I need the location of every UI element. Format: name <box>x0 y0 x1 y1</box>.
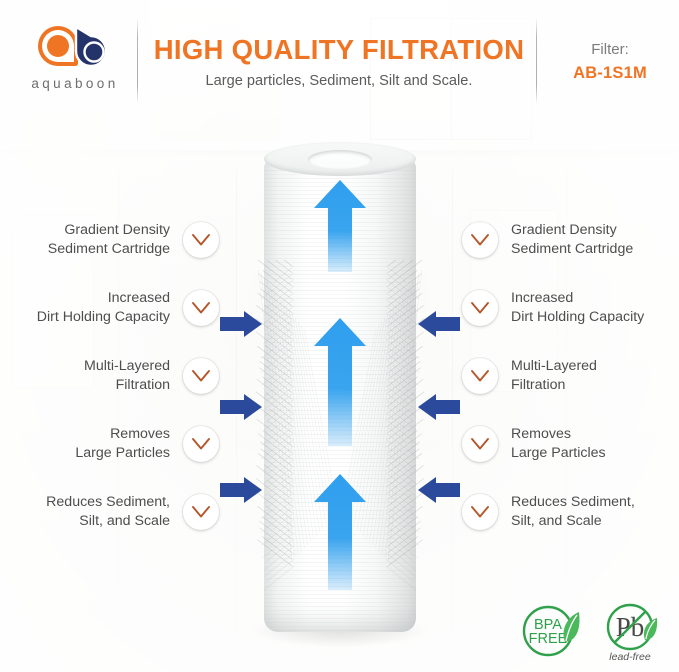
page-subtitle: Large particles, Sediment, Silt and Scal… <box>150 73 528 89</box>
feature-list-right: Gradient Density Sediment CartridgeIncre… <box>462 206 677 546</box>
bpa-free-icon: BPA FREE <box>517 598 587 664</box>
navy-inward-arrow-icon <box>416 475 462 505</box>
feature-label: Removes Large Particles <box>75 425 170 462</box>
header-bar: aquaboon HIGH QUALITY FILTRATION Large p… <box>0 0 679 110</box>
feature-label: Gradient Density Sediment Cartridge <box>511 221 633 258</box>
check-icon <box>462 358 498 394</box>
check-icon <box>462 494 498 530</box>
blue-up-arrow-icon <box>312 316 368 448</box>
blue-up-arrow-icon <box>312 472 368 592</box>
check-icon <box>183 222 219 258</box>
sediment-filter-cartridge <box>264 142 416 654</box>
feature-label: Multi-Layered Filtration <box>511 357 597 394</box>
filter-label: Filter: <box>545 40 675 60</box>
cartridge-center-hole <box>308 150 372 169</box>
header-divider-left <box>137 18 138 104</box>
check-icon <box>462 222 498 258</box>
blue-up-arrow-icon <box>312 178 368 274</box>
svg-text:lead-free: lead-free <box>609 651 651 663</box>
page-title: HIGH QUALITY FILTRATION <box>150 36 528 65</box>
eco-badge-group: BPA FREE Pb lead-free <box>517 598 669 664</box>
feature-item: Reduces Sediment, Silt, and Scale <box>462 478 677 546</box>
brand-name: aquaboon <box>31 76 118 91</box>
feature-item: Increased Dirt Holding Capacity <box>4 274 219 342</box>
feature-label: Increased Dirt Holding Capacity <box>37 289 170 326</box>
feature-item: Reduces Sediment, Silt, and Scale <box>4 478 219 546</box>
feature-label: Reduces Sediment, Silt, and Scale <box>511 493 635 530</box>
navy-inward-arrow-icon <box>218 392 264 422</box>
feature-label: Reduces Sediment, Silt, and Scale <box>46 493 170 530</box>
feature-label: Increased Dirt Holding Capacity <box>511 289 644 326</box>
feature-label: Gradient Density Sediment Cartridge <box>48 221 170 258</box>
infographic-canvas: aquaboon HIGH QUALITY FILTRATION Large p… <box>0 0 679 672</box>
feature-item: Removes Large Particles <box>462 410 677 478</box>
header-divider-right <box>536 18 537 104</box>
check-icon <box>462 290 498 326</box>
navy-inward-arrow-icon <box>218 475 264 505</box>
navy-inward-arrow-icon <box>416 309 462 339</box>
feature-item: Removes Large Particles <box>4 410 219 478</box>
aquaboon-ab-monogram-icon <box>38 26 112 70</box>
feature-list-left: Gradient Density Sediment CartridgeIncre… <box>4 206 219 546</box>
check-icon <box>183 290 219 326</box>
brand-logo: aquaboon <box>20 26 130 96</box>
filter-model: AB-1S1M <box>545 62 675 84</box>
check-icon <box>183 494 219 530</box>
logo-b-drop <box>70 25 112 69</box>
logo-a-dot <box>47 35 69 57</box>
check-icon <box>183 426 219 462</box>
feature-item: Gradient Density Sediment Cartridge <box>4 206 219 274</box>
feature-label: Removes Large Particles <box>511 425 606 462</box>
feature-item: Multi-Layered Filtration <box>462 342 677 410</box>
svg-text:FREE: FREE <box>529 631 568 647</box>
feature-item: Increased Dirt Holding Capacity <box>462 274 677 342</box>
header-title-block: HIGH QUALITY FILTRATION Large particles,… <box>150 36 528 89</box>
navy-inward-arrow-icon <box>218 309 264 339</box>
feature-item: Multi-Layered Filtration <box>4 342 219 410</box>
feature-item: Gradient Density Sediment Cartridge <box>462 206 677 274</box>
navy-inward-arrow-icon <box>416 392 462 422</box>
lead-free-icon: Pb lead-free <box>597 598 669 664</box>
check-icon <box>462 426 498 462</box>
filter-model-block: Filter: AB-1S1M <box>545 40 675 84</box>
check-icon <box>183 358 219 394</box>
feature-label: Multi-Layered Filtration <box>84 357 170 394</box>
